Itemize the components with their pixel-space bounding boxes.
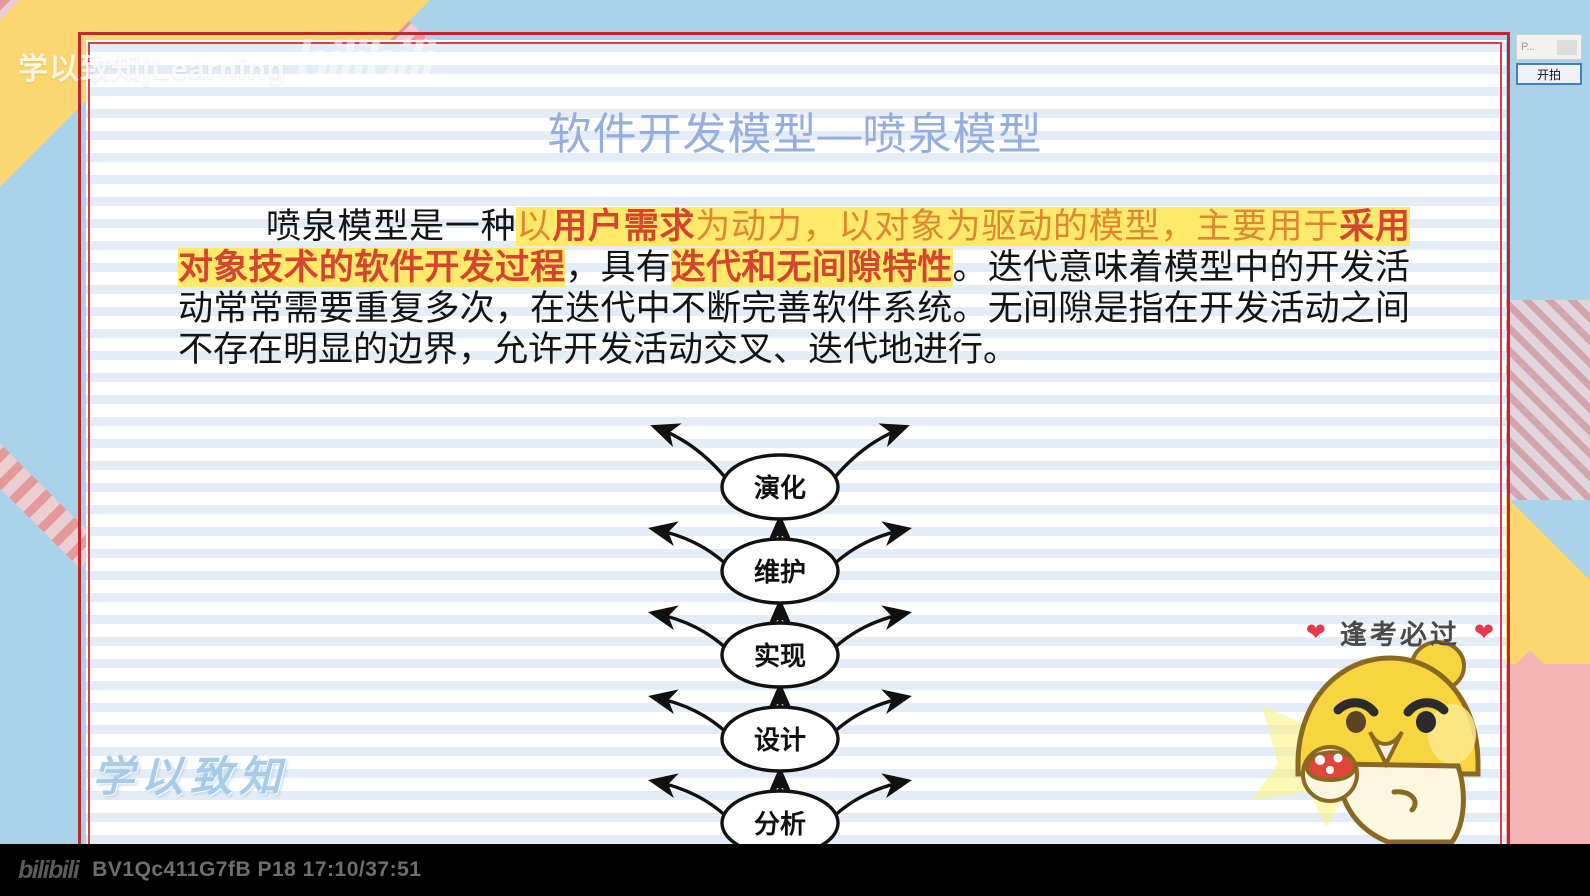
diagram-node-label-analysis: 分析	[754, 809, 806, 839]
slogan-text: 逢考必过	[1340, 613, 1460, 652]
slogan-group: ❤ 逢考必过 ❤	[1306, 613, 1494, 652]
text-segment-1: 以	[516, 207, 552, 246]
recorder-widget[interactable]: P... 开拍	[1516, 34, 1582, 85]
recorder-thumbnail	[1557, 40, 1577, 55]
recorder-label: P...	[1521, 41, 1534, 53]
bilibili-logo: bilibili	[18, 856, 78, 885]
fountain-model-diagram: 演化 维护 实现 设计 分析	[615, 395, 945, 844]
video-meta-text: BV1Qc411G7fB P18 17:10/37:51	[92, 858, 421, 882]
text-segment-3: 为动力，以对象为驱动的模型，主要用于	[695, 207, 1339, 246]
heart-icon: ❤	[1474, 621, 1494, 645]
diagram-node-label-maintenance: 维护	[754, 557, 806, 587]
heart-icon: ❤	[1306, 621, 1326, 645]
diagram-node-label-design: 设计	[754, 725, 806, 755]
diagram-node-label-implementation: 实现	[754, 641, 806, 671]
text-segment-6: 迭代和无间隙特性	[671, 248, 953, 287]
recorder-widget-body: P...	[1516, 34, 1582, 60]
page-title: 软件开发模型—喷泉模型	[0, 98, 1590, 162]
video-player-surface[interactable]: 软件开发模型—喷泉模型 喷泉模型是一种以用户需求为动力，以对象为驱动的模型，主要…	[0, 0, 1590, 844]
screen: 软件开发模型—喷泉模型 喷泉模型是一种以用户需求为动力，以对象为驱动的模型，主要…	[0, 0, 1590, 896]
player-status-bar: bilibili BV1Qc411G7fB P18 17:10/37:51	[0, 844, 1590, 896]
diagram-node-label-evolution: 演化	[754, 473, 806, 503]
text-segment-5: ，具有	[565, 248, 671, 287]
slide-body-text: 喷泉模型是一种以用户需求为动力，以对象为驱动的模型，主要用于采用对象技术的软件开…	[178, 206, 1410, 370]
text-segment-0: 喷泉模型是一种	[266, 207, 516, 246]
start-recording-button[interactable]: 开拍	[1516, 63, 1582, 85]
text-segment-2: 用户需求	[552, 207, 695, 246]
